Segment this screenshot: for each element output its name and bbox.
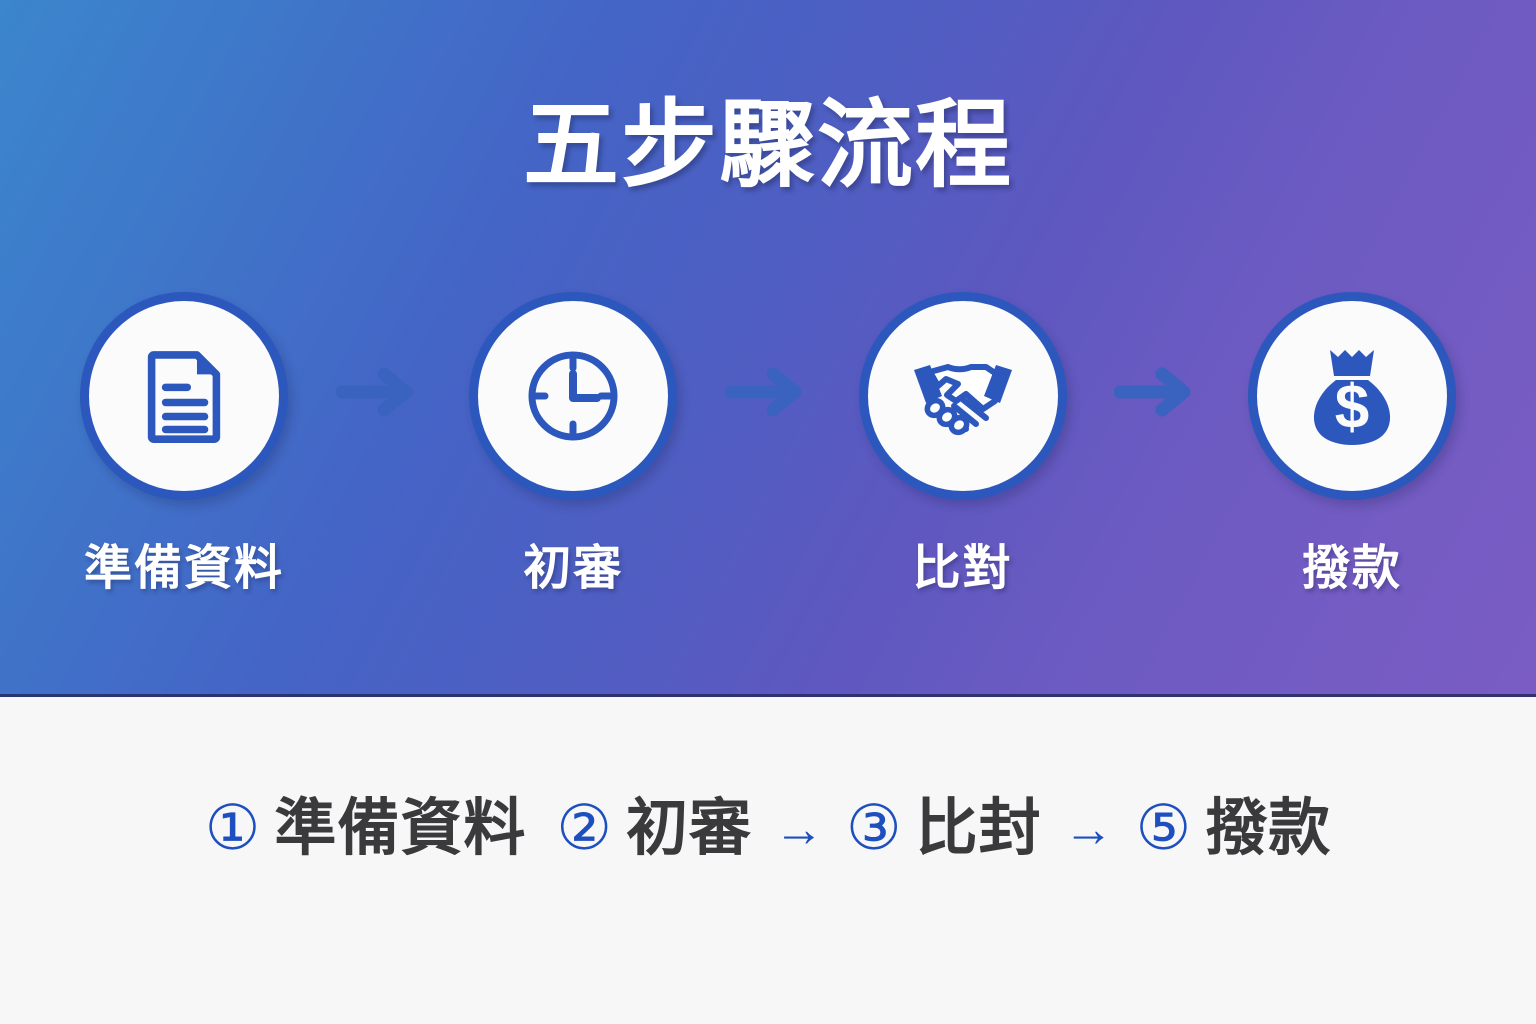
arrow-right-icon — [336, 364, 422, 420]
caption-number: ① — [205, 793, 261, 865]
caption-label: 撥款 — [1205, 793, 1331, 865]
flow-poster: 五步驟流程 準備資料 — [0, 0, 1536, 1024]
step-label: 比對 — [913, 540, 1013, 598]
step-connector — [1097, 364, 1217, 420]
arrow-right-icon — [725, 364, 811, 420]
clock-icon — [513, 336, 633, 456]
caption-arrow-icon: → — [1064, 793, 1114, 865]
caption-number: ② — [556, 793, 612, 865]
process-steps: 準備資料 — [68, 292, 1468, 598]
document-icon — [130, 342, 238, 450]
caption-label: 初審 — [626, 793, 752, 865]
step-icon-circle — [80, 292, 288, 500]
caption-arrow-icon: → — [774, 793, 824, 865]
step-icon-circle: $ — [1248, 292, 1456, 500]
handshake-icon — [900, 346, 1026, 446]
svg-text:$: $ — [1335, 373, 1369, 442]
step-icon-circle — [469, 292, 677, 500]
step-connector — [708, 364, 828, 420]
step-initial-review[interactable]: 初審 — [457, 292, 689, 598]
step-connector — [319, 364, 439, 420]
step-label: 撥款 — [1302, 540, 1402, 598]
money-bag-icon: $ — [1292, 336, 1412, 456]
caption-bar: ① 準備資料 ② 初審 → ③ 比封 → ⑤ 撥款 — [0, 701, 1536, 1024]
page-title: 五步驟流程 — [0, 88, 1536, 204]
step-icon-circle — [859, 292, 1067, 500]
hero-section: 五步驟流程 準備資料 — [0, 0, 1536, 697]
arrow-right-icon — [1114, 364, 1200, 420]
caption-label: 準備資料 — [274, 793, 526, 865]
caption-sequence: ① 準備資料 ② 初審 → ③ 比封 → ⑤ 撥款 — [205, 793, 1331, 865]
caption-number: ③ — [846, 793, 902, 865]
step-label: 初審 — [523, 540, 623, 598]
step-label: 準備資料 — [84, 540, 284, 598]
step-prepare-documents[interactable]: 準備資料 — [68, 292, 300, 598]
step-matching[interactable]: 比對 — [847, 292, 1079, 598]
caption-number: ⑤ — [1136, 793, 1192, 865]
step-disbursement[interactable]: $ 撥款 — [1236, 292, 1468, 598]
caption-label: 比封 — [916, 793, 1042, 865]
hero-divider — [0, 694, 1536, 697]
